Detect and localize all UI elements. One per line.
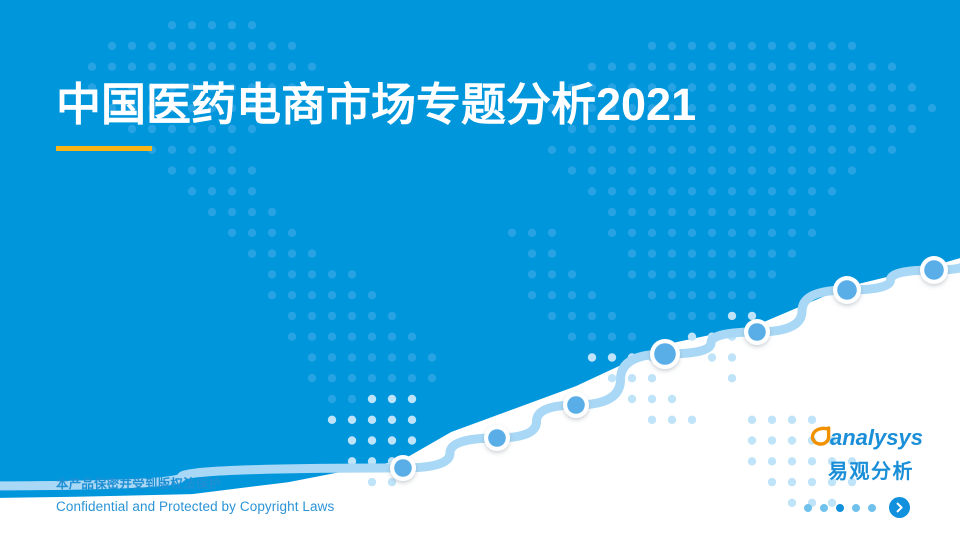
analysys-logo: analysys 易观分析: [806, 424, 936, 484]
map-dot: [648, 416, 656, 424]
confidentiality-notice-en: Confidential and Protected by Copyright …: [56, 497, 334, 518]
map-dot: [728, 333, 736, 341]
analysys-swoosh-mark: [812, 428, 828, 444]
map-dot: [768, 416, 776, 424]
pager-dot-2[interactable]: [820, 504, 828, 512]
slide-pager: [804, 497, 910, 518]
map-dot: [388, 478, 396, 486]
map-dot: [728, 374, 736, 382]
map-dot: [788, 436, 796, 444]
trend-marker: [484, 425, 510, 451]
pager-dot-3[interactable]: [836, 504, 844, 512]
trend-marker: [563, 392, 589, 418]
title-slide: 中国医药电商市场专题分析2021 本产品保密并受到版权法保护 Confident…: [0, 0, 960, 540]
analysys-wordmark: analysys: [806, 424, 936, 454]
confidentiality-notice-cn: 本产品保密并受到版权法保护: [56, 475, 334, 494]
map-dot: [788, 416, 796, 424]
map-dot: [768, 478, 776, 486]
map-dot: [808, 416, 816, 424]
pager-dot-1[interactable]: [804, 504, 812, 512]
map-dot: [648, 395, 656, 403]
map-dot: [708, 353, 716, 361]
map-dot: [788, 457, 796, 465]
map-dot: [368, 478, 376, 486]
map-dot: [688, 416, 696, 424]
map-dot: [668, 395, 676, 403]
map-dot: [628, 374, 636, 382]
map-dot: [608, 374, 616, 382]
confidentiality-notice: 本产品保密并受到版权法保护 Confidential and Protected…: [56, 475, 334, 518]
pager-dot-5[interactable]: [868, 504, 876, 512]
title-underline-rule: [56, 146, 152, 151]
map-dot: [788, 499, 796, 507]
analysys-wordmark-text: analysys: [830, 425, 923, 450]
map-dot: [768, 457, 776, 465]
map-dot: [748, 333, 756, 341]
pager-dot-4[interactable]: [852, 504, 860, 512]
map-dot: [768, 436, 776, 444]
next-slide-arrow-icon[interactable]: [889, 497, 910, 518]
map-dot: [648, 374, 656, 382]
map-dot: [668, 416, 676, 424]
map-dot: [648, 353, 656, 361]
analysys-logo-name-cn: 易观分析: [806, 455, 936, 484]
map-dot: [628, 395, 636, 403]
page-title: 中国医药电商市场专题分析2021: [56, 78, 696, 131]
map-dot: [748, 436, 756, 444]
map-dot: [788, 478, 796, 486]
map-dot: [748, 416, 756, 424]
map-dot: [728, 353, 736, 361]
title-block: 中国医药电商市场专题分析2021: [56, 78, 696, 151]
map-dot: [748, 457, 756, 465]
